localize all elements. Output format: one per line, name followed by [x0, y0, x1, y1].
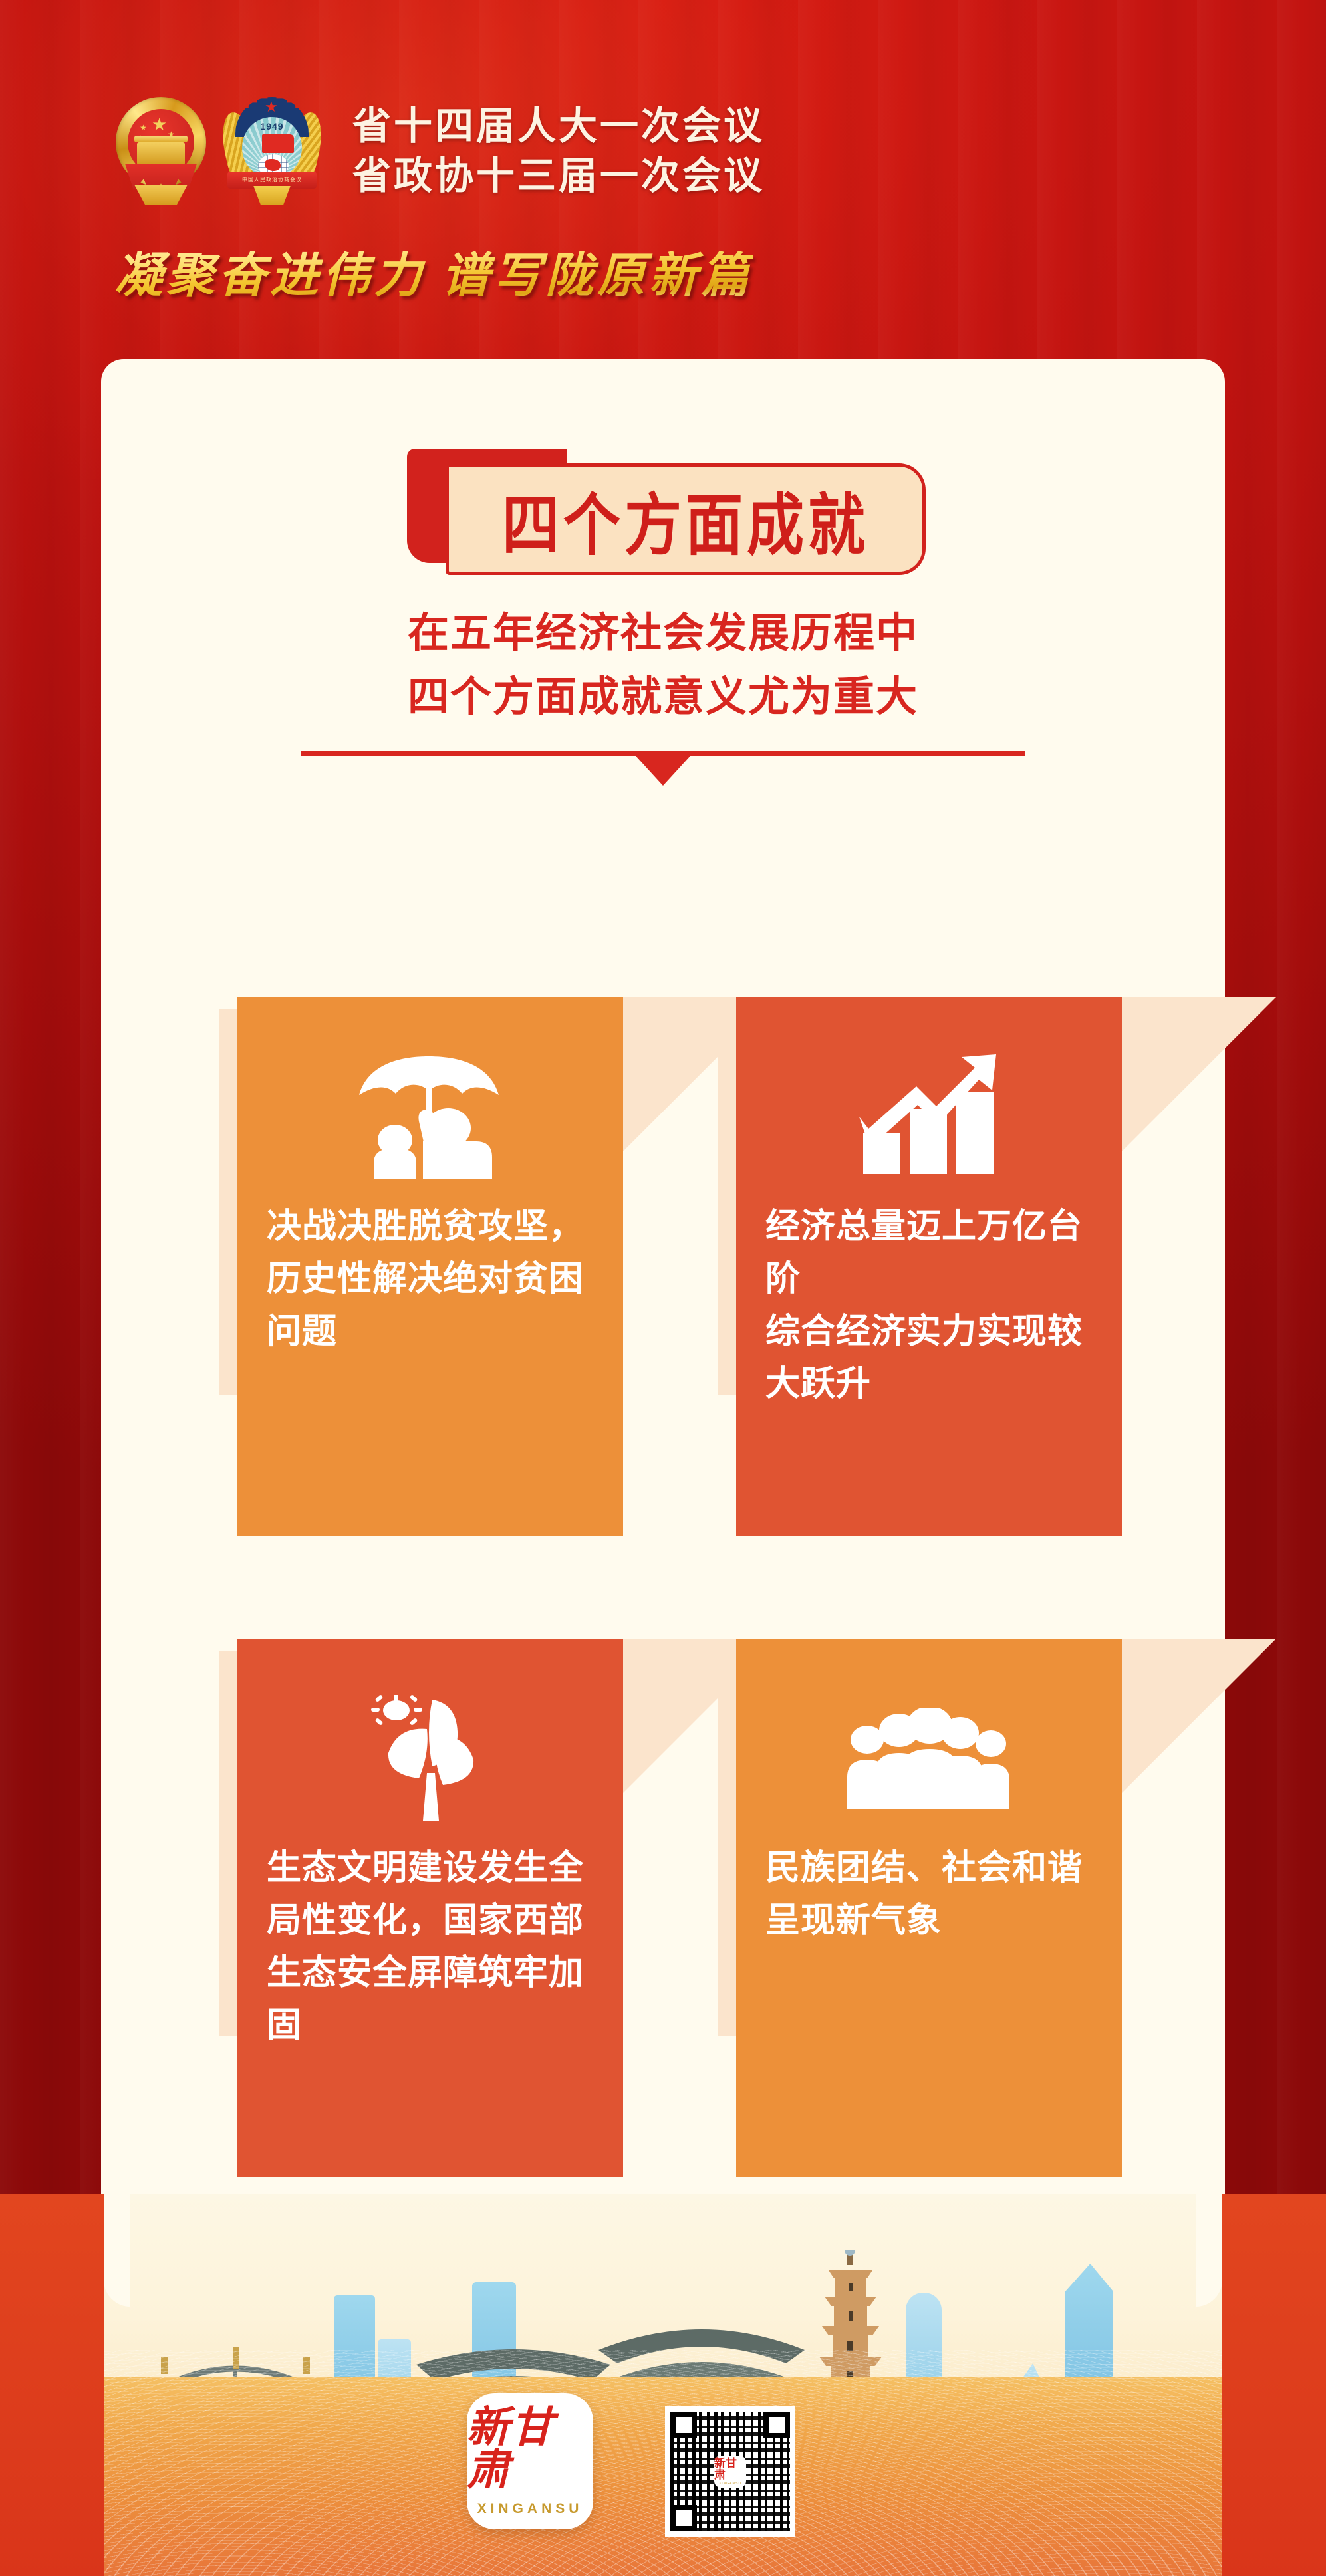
growth-chart-icon	[765, 1034, 1093, 1201]
umbrella-protection-icon	[267, 1034, 594, 1201]
logo-pinyin-text: XINGANSU	[477, 2501, 583, 2517]
subtitle-line-1: 在五年经济社会发展历程中	[101, 602, 1225, 665]
qr-finder-top-left	[670, 2412, 697, 2438]
footer-left-red-edge	[0, 2194, 104, 2576]
cppcc-year-label: 1949	[242, 121, 302, 132]
card-slot-4: 民族团结、社会和谐呈现新气象	[736, 1639, 1122, 2177]
card-paragraph: 经济总量迈上万亿台阶	[765, 1201, 1093, 1306]
emblem-group: ★ ★ ★ ★ ★ ★ 1949 中国人民政	[112, 93, 319, 205]
qr-finder-bottom-left	[670, 2505, 697, 2531]
card-paragraph: 决战决胜脱贫攻坚，历史性解决绝对贫困问题	[267, 1201, 594, 1358]
achievement-card-ethnic-unity[interactable]: 民族团结、社会和谐呈现新气象	[736, 1639, 1122, 2177]
qr-code[interactable]: 新甘肃 XINGANSU	[665, 2406, 795, 2537]
qr-center-logo: 新甘肃 XINGANSU	[714, 2456, 746, 2488]
achievement-card-ecological-civilization[interactable]: 生态文明建设发生全局性变化，国家西部生态安全屏障筑牢加固	[237, 1639, 623, 2177]
meeting-title-npc: 省十四届人大一次会议	[352, 101, 765, 151]
meeting-title-cppcc: 省政协十三届一次会议	[352, 151, 765, 201]
section-title-banner: 四个方面成就	[407, 449, 926, 575]
plant-sun-icon	[267, 1676, 594, 1842]
card-slot-2: 经济总量迈上万亿台阶综合经济实力实现较大跃升	[736, 997, 1122, 1536]
achievement-cards-grid: 决战决胜脱贫攻坚，历史性解决绝对贫困问题	[101, 997, 1225, 2177]
qr-finder-top-right	[763, 2412, 790, 2438]
card-paragraph: 民族团结、社会和谐呈现新气象	[765, 1842, 1093, 1947]
card-text-4: 民族团结、社会和谐呈现新气象	[765, 1842, 1093, 1947]
card-left-strip-1	[219, 1009, 239, 1395]
card-left-strip-4	[718, 1651, 737, 2036]
logo-chinese-text: 新甘肃	[467, 2406, 593, 2492]
qr-logo-chinese: 新甘肃	[714, 2458, 746, 2480]
card-slot-3: 生态文明建设发生全局性变化，国家西部生态安全屏障筑牢加固	[237, 1639, 623, 2177]
national-emblem-icon: ★ ★ ★ ★ ★	[112, 93, 210, 205]
banner-title-text: 四个方面成就	[502, 470, 869, 568]
footer-ground	[0, 2377, 1326, 2576]
subtitle-divider	[101, 751, 1225, 791]
card-slot-1: 决战决胜脱贫攻坚，历史性解决绝对贫困问题	[237, 997, 623, 1536]
card-text-2: 经济总量迈上万亿台阶综合经济实力实现较大跃升	[765, 1201, 1093, 1411]
people-group-icon	[765, 1676, 1093, 1842]
meeting-titles: 省十四届人大一次会议 省政协十三届一次会议	[352, 101, 765, 201]
card-text-1: 决战决胜脱贫攻坚，历史性解决绝对贫困问题	[267, 1201, 594, 1358]
poster-header: ★ ★ ★ ★ ★ ★ 1949 中国人民政	[0, 0, 1326, 359]
card-paragraph: 生态文明建设发生全局性变化，国家西部生态安全屏障筑牢加固	[267, 1842, 594, 2052]
poster-footer: 新甘肃 XINGANSU 新甘肃 XINGANSU	[0, 2194, 1326, 2576]
card-paragraph: 综合经济实力实现较大跃升	[765, 1306, 1093, 1411]
card-text-3: 生态文明建设发生全局性变化，国家西部生态安全屏障筑牢加固	[267, 1842, 594, 2052]
content-panel: 四个方面成就 在五年经济社会发展历程中 四个方面成就意义尤为重大	[101, 359, 1225, 2267]
divider-triangle-icon	[635, 755, 691, 786]
card-corner-triangle-4	[1122, 1639, 1276, 1793]
xingansu-logo[interactable]: 新甘肃 XINGANSU	[467, 2393, 593, 2529]
card-left-strip-2	[718, 1009, 737, 1395]
qr-logo-pinyin: XINGANSU	[719, 2482, 741, 2486]
achievement-card-economic-scale[interactable]: 经济总量迈上万亿台阶综合经济实力实现较大跃升	[736, 997, 1122, 1536]
card-corner-triangle-2	[1122, 997, 1276, 1151]
poster-root: ★ ★ ★ ★ ★ ★ 1949 中国人民政	[0, 0, 1326, 2576]
header-slogan: 凝聚奋进伟力 谱写陇原新篇	[114, 236, 753, 306]
card-left-strip-3	[219, 1651, 239, 2036]
achievement-card-poverty-alleviation[interactable]: 决战决胜脱贫攻坚，历史性解决绝对贫困问题	[237, 997, 623, 1536]
subtitle-line-2: 四个方面成就意义尤为重大	[101, 665, 1225, 729]
subtitle-block: 在五年经济社会发展历程中 四个方面成就意义尤为重大	[101, 602, 1225, 729]
footer-right-red-edge	[1222, 2194, 1326, 2576]
banner-panel: 四个方面成就	[446, 463, 926, 575]
cppcc-emblem-icon: ★ 1949 中国人民政治协商会议	[225, 93, 319, 205]
